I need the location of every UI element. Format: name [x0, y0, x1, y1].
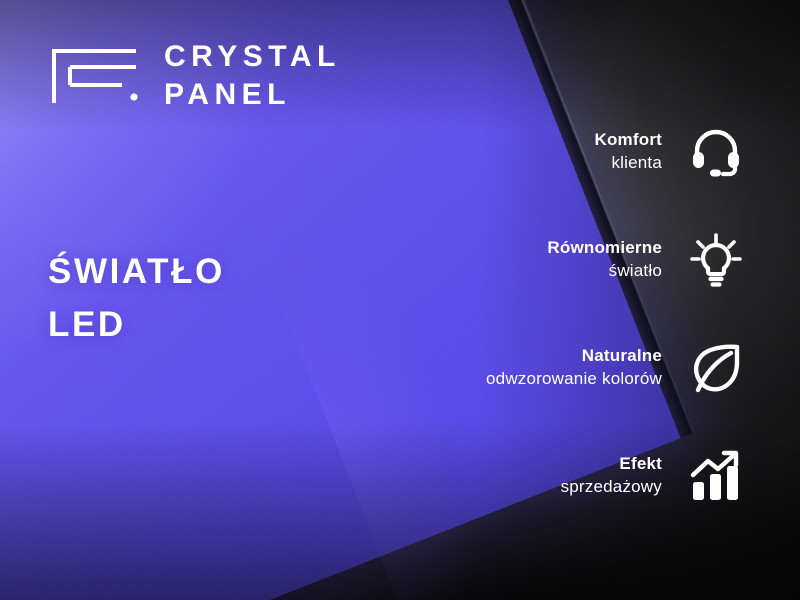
feature-subtitle: odwzorowanie kolorów — [486, 368, 662, 391]
page-title: ŚWIATŁO LED — [48, 246, 225, 351]
brand-name: CRYSTAL PANEL — [164, 38, 341, 115]
brand-name-line2: PANEL — [164, 78, 291, 111]
feature-title: Efekt — [561, 453, 662, 476]
feature-list: Komfort klienta Równomierne światło — [414, 124, 744, 504]
leaf-icon — [688, 340, 744, 396]
headline-line2: LED — [48, 305, 126, 344]
growth-chart-icon — [688, 448, 744, 504]
headset-icon — [688, 124, 744, 180]
promo-banner: CRYSTAL PANEL ŚWIATŁO LED Komfort klient… — [0, 0, 800, 600]
feature-subtitle: sprzedażowy — [561, 476, 662, 499]
feature-title: Równomierne — [547, 237, 662, 260]
feature-text: Komfort klienta — [595, 129, 663, 175]
feature-subtitle: klienta — [595, 152, 663, 175]
feature-item-rownomierne: Równomierne światło — [414, 232, 744, 288]
brand-logo: CRYSTAL PANEL — [50, 38, 341, 115]
feature-title: Naturalne — [486, 345, 662, 368]
feature-item-efekt: Efekt sprzedażowy — [414, 448, 744, 504]
feature-subtitle: światło — [547, 260, 662, 283]
feature-text: Naturalne odwzorowanie kolorów — [486, 345, 662, 391]
feature-item-naturalne: Naturalne odwzorowanie kolorów — [414, 340, 744, 396]
crystal-panel-logo-mark — [50, 45, 142, 107]
lightbulb-icon — [688, 232, 744, 288]
feature-text: Efekt sprzedażowy — [561, 453, 662, 499]
feature-title: Komfort — [595, 129, 663, 152]
feature-item-komfort: Komfort klienta — [414, 124, 744, 180]
headline-line1: ŚWIATŁO — [48, 252, 225, 291]
feature-text: Równomierne światło — [547, 237, 662, 283]
brand-name-line1: CRYSTAL — [164, 40, 341, 73]
